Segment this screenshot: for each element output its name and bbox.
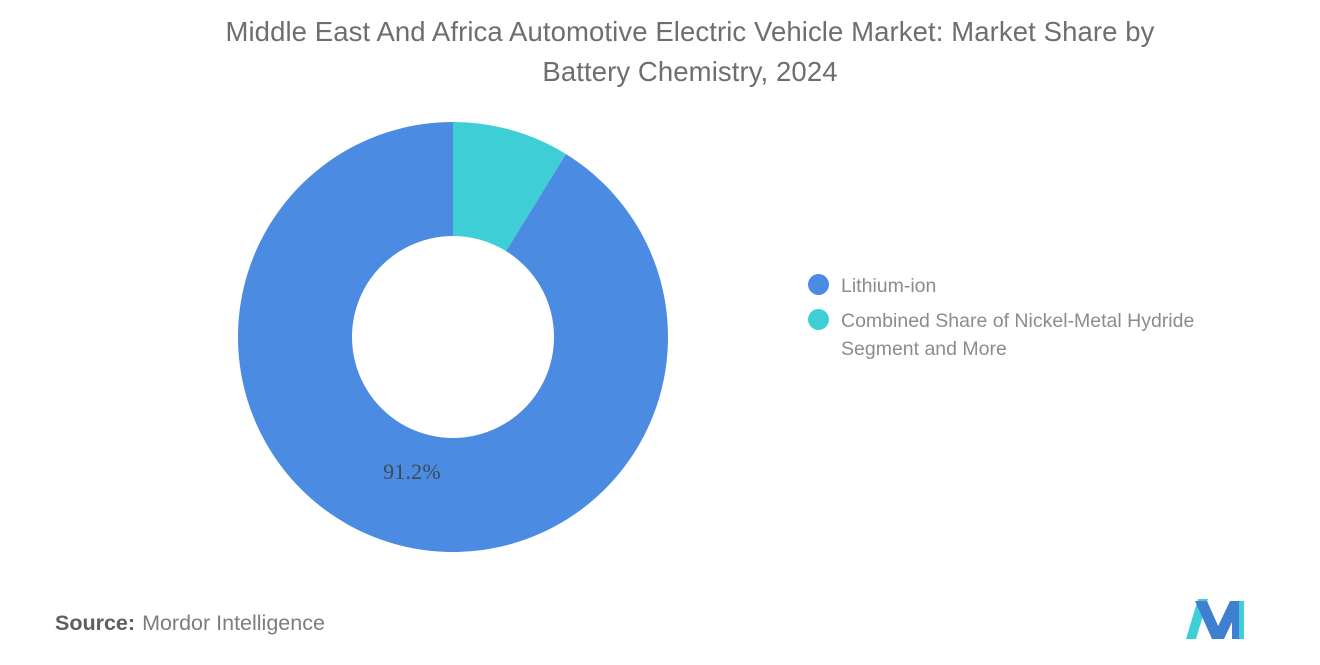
- logo-svg: [1186, 599, 1254, 639]
- legend-item-lithium-ion[interactable]: Lithium-ion: [808, 272, 1278, 300]
- mordor-intelligence-logo-icon: [1186, 599, 1254, 639]
- data-label-lithium-ion: 91.2%: [352, 459, 472, 485]
- page-title-line-2: Battery Chemistry, 2024: [150, 52, 1230, 92]
- page-title-line-1: Middle East And Africa Automotive Electr…: [150, 12, 1230, 52]
- source-label: Source:: [55, 611, 135, 635]
- donut-chart: [238, 122, 668, 552]
- legend-swatch-icon: [808, 309, 829, 330]
- legend-label-lithium-ion: Lithium-ion: [841, 272, 936, 300]
- page-title: Middle East And Africa Automotive Electr…: [150, 12, 1230, 92]
- donut-hole: [352, 236, 554, 438]
- donut-chart-svg: [238, 122, 668, 552]
- legend-swatch-icon: [808, 274, 829, 295]
- legend-item-combined-share[interactable]: Combined Share of Nickel-Metal Hydride S…: [808, 307, 1278, 363]
- chart-legend: Lithium-ion Combined Share of Nickel-Met…: [808, 272, 1278, 370]
- legend-label-combined-share: Combined Share of Nickel-Metal Hydride S…: [841, 307, 1261, 363]
- source-line: Source:Mordor Intelligence: [55, 611, 325, 636]
- source-name: Mordor Intelligence: [142, 611, 325, 635]
